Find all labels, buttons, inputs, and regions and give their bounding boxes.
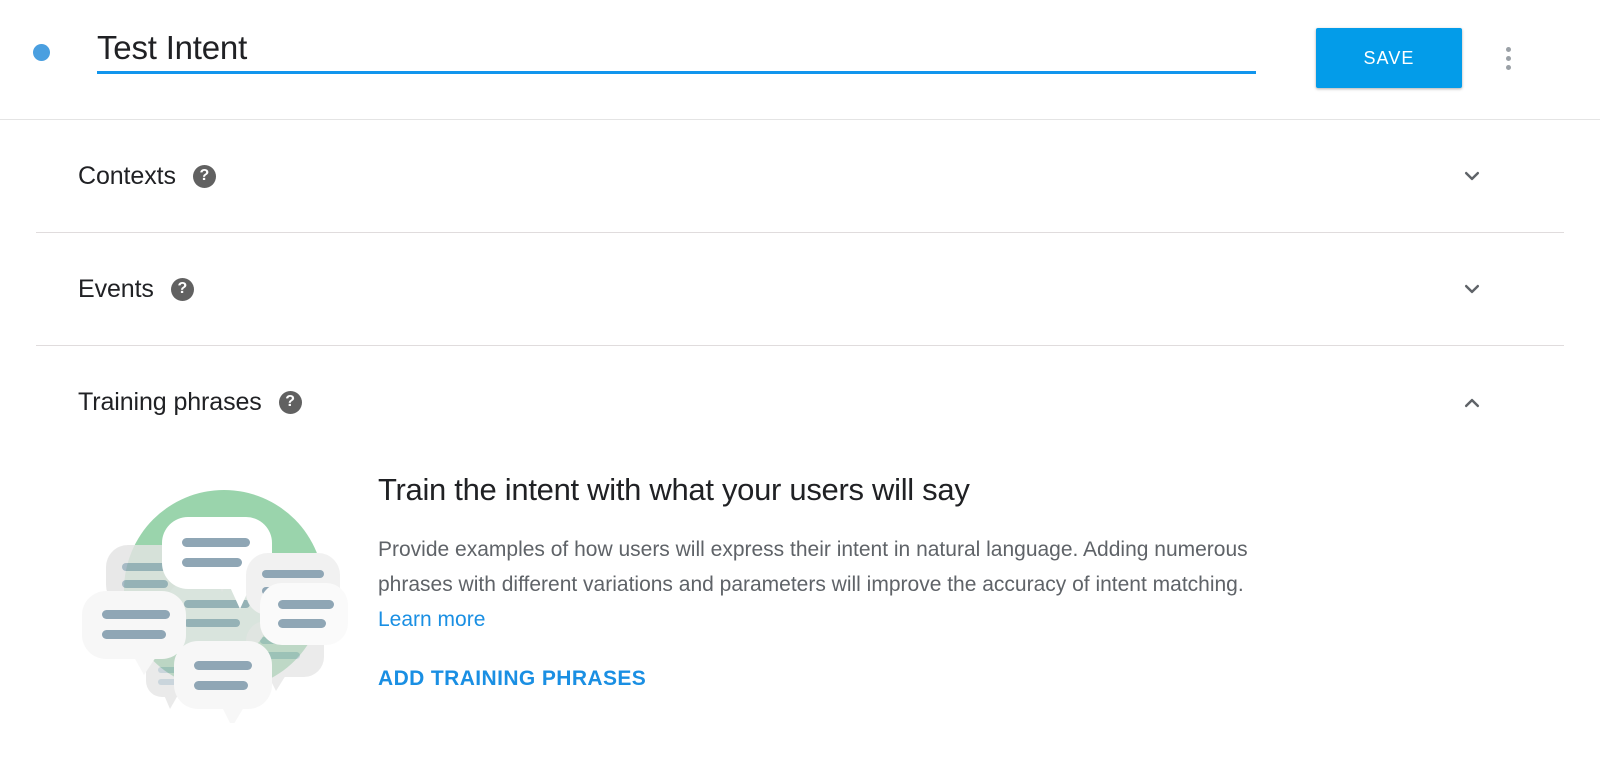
section-training-phrases[interactable]: Training phrases ? — [36, 346, 1564, 459]
section-contexts[interactable]: Contexts ? — [36, 120, 1564, 233]
help-circle-icon[interactable]: ? — [193, 165, 216, 188]
section-contexts-label: Contexts — [78, 164, 176, 189]
help-circle-icon[interactable]: ? — [279, 391, 302, 414]
training-phrases-heading: Train the intent with what your users wi… — [378, 471, 1258, 508]
illustration-bubble — [260, 583, 348, 645]
intent-name-input[interactable] — [97, 26, 1256, 70]
section-events-head: Events ? — [78, 233, 194, 346]
section-contexts-head: Contexts ? — [78, 120, 216, 233]
section-events-label: Events — [78, 277, 154, 302]
status-dot-icon — [33, 44, 50, 61]
chevron-down-icon[interactable] — [1452, 269, 1492, 309]
menu-dot — [1506, 65, 1511, 70]
menu-dot — [1506, 56, 1511, 61]
save-button[interactable]: SAVE — [1316, 28, 1462, 88]
section-training-phrases-head: Training phrases ? — [78, 346, 302, 459]
intent-sections: Contexts ? Events ? Training phrases ? — [0, 120, 1600, 459]
chevron-down-icon[interactable] — [1452, 156, 1492, 196]
speech-bubbles-illustration — [78, 463, 348, 723]
add-training-phrases-button[interactable]: ADD TRAINING PHRASES — [378, 667, 646, 691]
section-training-phrases-label: Training phrases — [78, 390, 262, 415]
illustration-bubble — [174, 641, 272, 723]
training-phrases-copy: Train the intent with what your users wi… — [378, 461, 1258, 691]
training-phrases-empty-state: Train the intent with what your users wi… — [0, 461, 1600, 723]
help-circle-icon[interactable]: ? — [171, 278, 194, 301]
more-vert-icon[interactable] — [1490, 34, 1526, 82]
menu-dot — [1506, 47, 1511, 52]
intent-title-field[interactable] — [97, 26, 1256, 74]
section-events[interactable]: Events ? — [36, 233, 1564, 346]
intent-header: SAVE — [0, 0, 1600, 120]
training-phrases-description-text: Provide examples of how users will expre… — [378, 538, 1248, 596]
learn-more-link[interactable]: Learn more — [378, 608, 485, 631]
training-phrases-description: Provide examples of how users will expre… — [378, 532, 1258, 637]
chevron-up-icon[interactable] — [1452, 383, 1492, 423]
